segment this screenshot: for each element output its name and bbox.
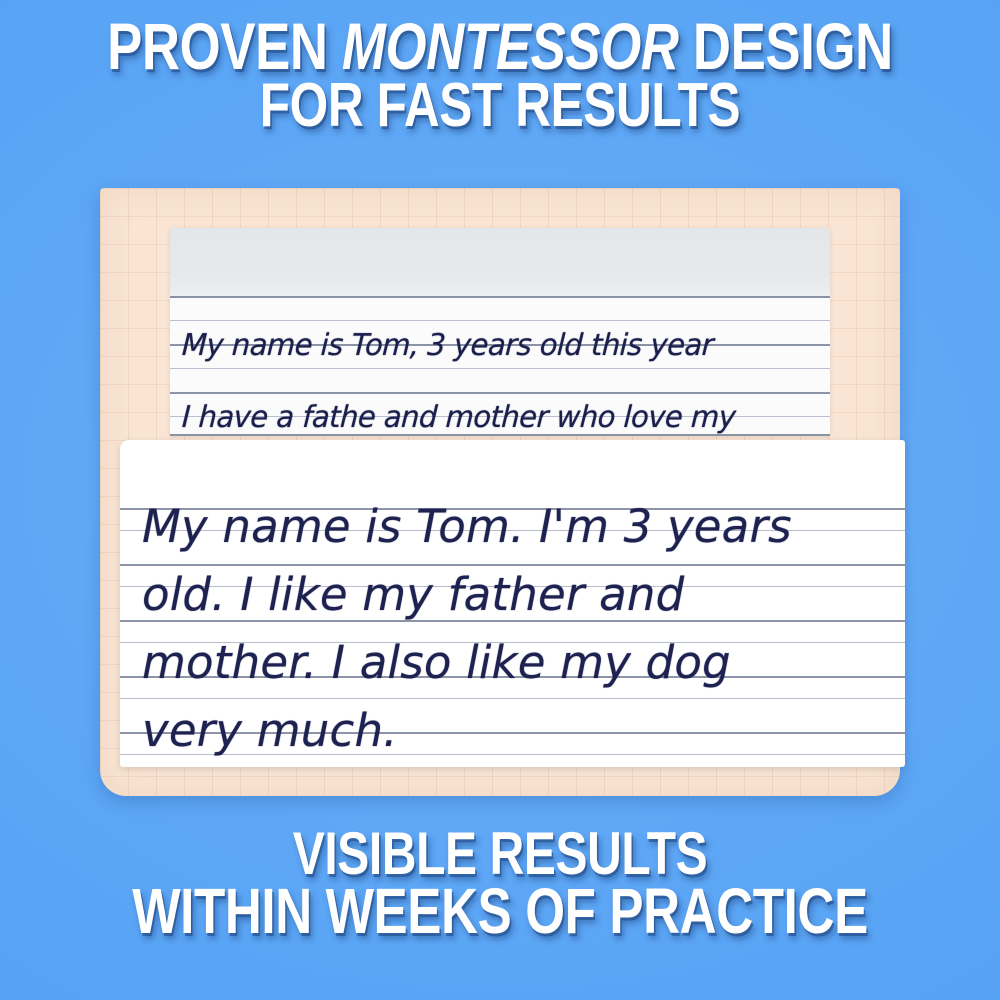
before-panel-header-band xyxy=(170,228,830,296)
before-rule-2 xyxy=(170,320,830,321)
after-writing-panel: My name is Tom. I'm 3 years old. I like … xyxy=(120,440,905,767)
headline-top-line-1: PROVEN MONTESSOR DESIGN xyxy=(100,16,900,77)
promo-image-stage: PROVEN MONTESSOR DESIGN FOR FAST RESULTS… xyxy=(0,0,1000,1000)
after-handwriting-line-4: very much. xyxy=(142,704,902,757)
headline-top: PROVEN MONTESSOR DESIGN FOR FAST RESULTS xyxy=(0,16,1000,135)
practice-board: My name is Tom, 3 years old this year I … xyxy=(100,188,900,796)
before-rule-4 xyxy=(170,368,830,369)
headline-bottom-line-1: VISIBLE RESULTS xyxy=(100,826,900,882)
headline-top-line-2: FOR FAST RESULTS xyxy=(100,77,900,135)
after-rule-8 xyxy=(120,698,905,699)
before-handwriting-line-2: I have a fathe and mother who love my xyxy=(181,400,811,435)
headline-bottom: VISIBLE RESULTS WITHIN WEEKS OF PRACTICE xyxy=(0,826,1000,941)
before-rule-5 xyxy=(170,392,830,394)
before-rule-1 xyxy=(170,296,830,298)
before-handwriting-line-1: My name is Tom, 3 years old this year xyxy=(181,328,811,363)
after-rule-3 xyxy=(120,564,905,566)
after-handwriting-line-3: mother. I also like my dog xyxy=(142,636,902,689)
after-handwriting-line-1: My name is Tom. I'm 3 years xyxy=(142,500,902,553)
before-writing-panel: My name is Tom, 3 years old this year I … xyxy=(170,228,830,436)
after-handwriting-line-2: old. I like my father and xyxy=(142,568,902,621)
headline-bottom-line-2: WITHIN WEEKS OF PRACTICE xyxy=(100,882,900,942)
